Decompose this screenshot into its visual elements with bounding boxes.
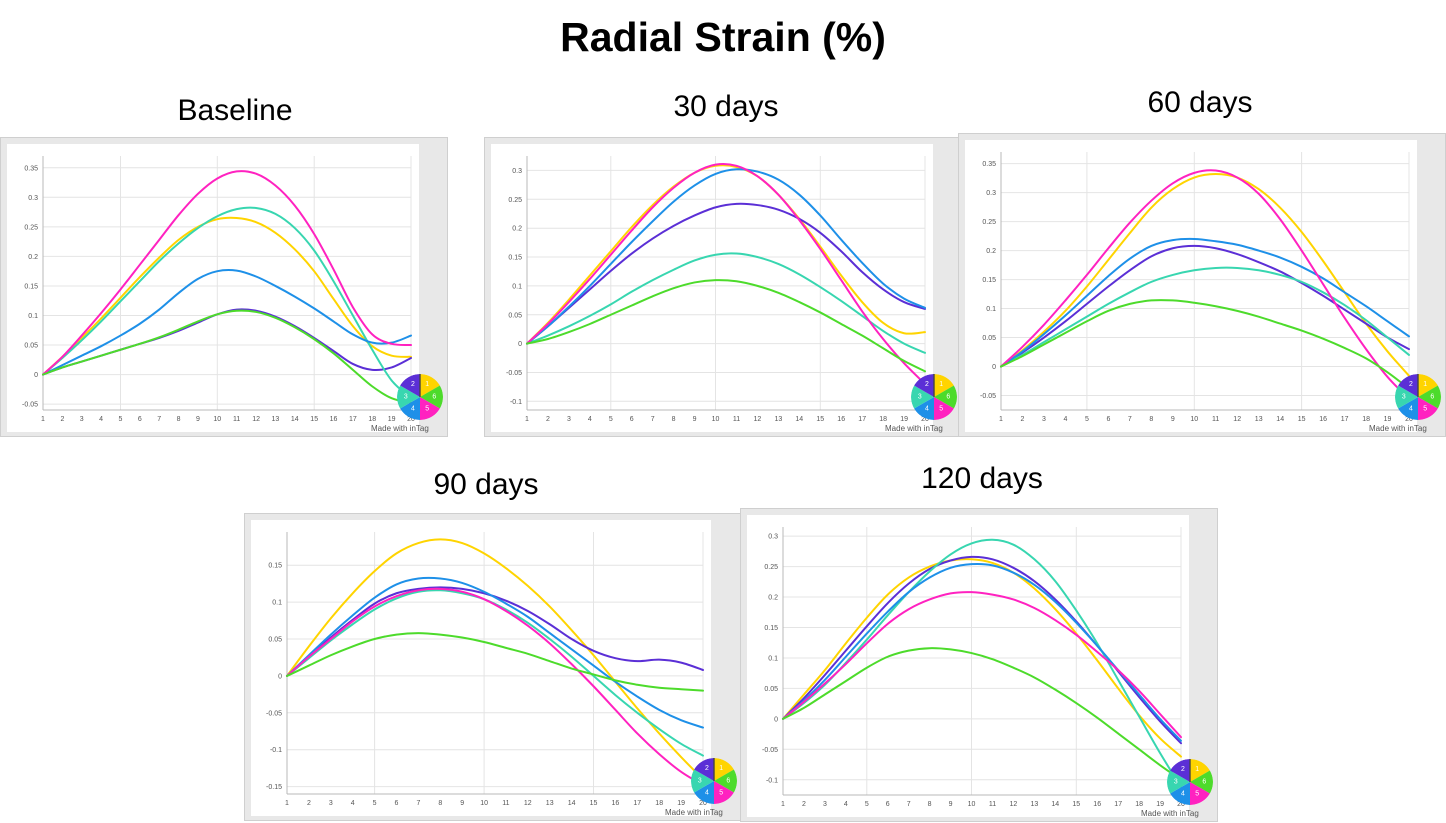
series-line-4: [287, 578, 703, 728]
svg-text:14: 14: [1276, 416, 1284, 423]
svg-text:17: 17: [633, 800, 641, 807]
svg-text:18: 18: [368, 416, 376, 423]
svg-text:0.3: 0.3: [28, 195, 38, 202]
svg-text:16: 16: [330, 416, 338, 423]
svg-text:13: 13: [775, 416, 783, 423]
svg-text:13: 13: [1255, 416, 1263, 423]
svg-text:9: 9: [460, 800, 464, 807]
chart-panel-baseline: -0.0500.050.10.150.20.250.30.35123456789…: [0, 137, 448, 437]
watermark-label: Made with inTag: [1141, 809, 1199, 818]
svg-text:-0.1: -0.1: [510, 399, 522, 406]
svg-text:5: 5: [425, 406, 429, 413]
svg-text:6: 6: [395, 800, 399, 807]
svg-text:0: 0: [518, 341, 522, 348]
svg-text:10: 10: [712, 416, 720, 423]
svg-text:11: 11: [502, 800, 509, 807]
svg-text:16: 16: [837, 416, 845, 423]
svg-text:4: 4: [844, 801, 848, 808]
svg-text:9: 9: [949, 801, 953, 808]
chart-panel-d90: -0.15-0.1-0.0500.050.10.1512345678910111…: [244, 513, 742, 821]
svg-text:8: 8: [928, 801, 932, 808]
segment-wheel-legend: 165432: [397, 374, 443, 420]
svg-text:0.15: 0.15: [268, 563, 282, 570]
segment-wheel-legend: 165432: [911, 374, 957, 420]
svg-text:-0.15: -0.15: [266, 784, 282, 791]
panel-title-baseline: Baseline: [0, 94, 470, 128]
svg-text:14: 14: [1051, 801, 1059, 808]
svg-text:11: 11: [1212, 416, 1219, 423]
svg-text:4: 4: [1181, 791, 1185, 798]
svg-text:11: 11: [989, 801, 996, 808]
svg-text:16: 16: [612, 800, 620, 807]
svg-text:14: 14: [568, 800, 576, 807]
svg-text:0: 0: [278, 673, 282, 680]
svg-text:0.3: 0.3: [986, 190, 996, 197]
series-line-2: [287, 587, 703, 676]
svg-text:8: 8: [1149, 416, 1153, 423]
page-title: Radial Strain (%): [0, 14, 1446, 61]
segment-wheel-legend: 165432: [691, 758, 737, 804]
series-line-1: [43, 218, 411, 375]
series-line-2: [783, 557, 1181, 743]
svg-text:3: 3: [918, 393, 922, 400]
svg-text:2: 2: [411, 381, 415, 388]
svg-text:15: 15: [1298, 416, 1306, 423]
svg-text:2: 2: [546, 416, 550, 423]
svg-text:3: 3: [80, 416, 84, 423]
svg-text:9: 9: [1171, 416, 1175, 423]
svg-text:9: 9: [196, 416, 200, 423]
svg-text:4: 4: [99, 416, 103, 423]
svg-text:6: 6: [432, 393, 436, 400]
svg-text:12: 12: [754, 416, 762, 423]
svg-text:0: 0: [774, 716, 778, 723]
svg-text:13: 13: [546, 800, 554, 807]
svg-text:0.25: 0.25: [24, 224, 38, 231]
svg-text:0.25: 0.25: [982, 219, 996, 226]
svg-text:0.05: 0.05: [508, 312, 522, 319]
series-line-1: [287, 539, 703, 779]
watermark-label: Made with inTag: [885, 424, 943, 433]
svg-text:5: 5: [609, 416, 613, 423]
svg-text:0.25: 0.25: [764, 564, 778, 571]
svg-text:16: 16: [1319, 416, 1327, 423]
series-line-5: [43, 171, 411, 374]
svg-text:4: 4: [411, 406, 415, 413]
svg-text:12: 12: [252, 416, 260, 423]
svg-text:10: 10: [968, 801, 976, 808]
plot-area-d60: -0.0500.050.10.150.20.250.30.35123456789…: [965, 140, 1417, 432]
plot-area-baseline: -0.0500.050.10.150.20.250.30.35123456789…: [7, 144, 419, 432]
plot-area-d120: -0.1-0.0500.050.10.150.20.250.3123456789…: [747, 515, 1189, 817]
svg-text:0.1: 0.1: [28, 313, 38, 320]
svg-text:0: 0: [992, 364, 996, 371]
svg-text:12: 12: [524, 800, 532, 807]
svg-text:8: 8: [672, 416, 676, 423]
svg-text:5: 5: [1085, 416, 1089, 423]
svg-text:19: 19: [900, 416, 908, 423]
svg-text:0.1: 0.1: [986, 306, 996, 313]
watermark-label: Made with inTag: [665, 808, 723, 817]
svg-text:3: 3: [698, 777, 702, 784]
svg-text:6: 6: [886, 801, 890, 808]
svg-text:10: 10: [1190, 416, 1198, 423]
svg-text:15: 15: [590, 800, 598, 807]
svg-text:18: 18: [655, 800, 663, 807]
svg-text:14: 14: [795, 416, 803, 423]
svg-text:15: 15: [816, 416, 824, 423]
svg-text:2: 2: [307, 800, 311, 807]
svg-text:0.05: 0.05: [764, 686, 778, 693]
svg-text:3: 3: [823, 801, 827, 808]
series-line-2: [527, 204, 925, 344]
svg-text:0.05: 0.05: [24, 343, 38, 350]
svg-text:7: 7: [907, 801, 911, 808]
series-line-3: [287, 590, 703, 755]
svg-text:0.1: 0.1: [512, 283, 522, 290]
svg-text:15: 15: [310, 416, 318, 423]
svg-text:19: 19: [388, 416, 396, 423]
series-line-3: [43, 208, 411, 399]
segment-wheel-legend: 165432: [1395, 374, 1441, 420]
svg-text:4: 4: [351, 800, 355, 807]
svg-text:3: 3: [329, 800, 333, 807]
svg-text:0.35: 0.35: [24, 165, 38, 172]
svg-text:2: 2: [1409, 381, 1413, 388]
svg-text:6: 6: [1430, 393, 1434, 400]
svg-text:5: 5: [865, 801, 869, 808]
svg-text:0.35: 0.35: [982, 161, 996, 168]
svg-text:-0.05: -0.05: [22, 402, 38, 409]
svg-text:-0.05: -0.05: [980, 393, 996, 400]
svg-text:4: 4: [705, 790, 709, 797]
panel-title-d120: 120 days: [742, 462, 1222, 496]
svg-text:0.15: 0.15: [508, 255, 522, 262]
svg-text:0.1: 0.1: [272, 600, 282, 607]
svg-text:2: 2: [802, 801, 806, 808]
svg-text:12: 12: [1010, 801, 1018, 808]
svg-text:0.05: 0.05: [982, 335, 996, 342]
plot-svg: -0.0500.050.10.150.20.250.30.35123456789…: [965, 140, 1417, 432]
svg-text:11: 11: [733, 416, 740, 423]
svg-text:7: 7: [157, 416, 161, 423]
svg-text:2: 2: [1181, 766, 1185, 773]
series-line-4: [783, 564, 1181, 741]
svg-text:5: 5: [1195, 791, 1199, 798]
svg-text:10: 10: [213, 416, 221, 423]
plot-svg: -0.0500.050.10.150.20.250.30.35123456789…: [7, 144, 419, 432]
svg-text:0.3: 0.3: [512, 168, 522, 175]
svg-text:1: 1: [999, 416, 1003, 423]
svg-text:0.25: 0.25: [508, 197, 522, 204]
svg-text:0: 0: [34, 372, 38, 379]
series-line-5: [1001, 170, 1409, 399]
svg-text:11: 11: [233, 416, 240, 423]
watermark-label: Made with inTag: [371, 424, 429, 433]
series-line-5: [783, 592, 1181, 737]
svg-text:10: 10: [480, 800, 488, 807]
svg-text:4: 4: [588, 416, 592, 423]
series-line-3: [783, 540, 1181, 787]
svg-text:2: 2: [1021, 416, 1025, 423]
svg-text:0.15: 0.15: [982, 277, 996, 284]
svg-text:3: 3: [1174, 778, 1178, 785]
svg-text:1: 1: [1423, 381, 1427, 388]
svg-text:3: 3: [404, 393, 408, 400]
svg-text:17: 17: [858, 416, 866, 423]
svg-text:4: 4: [925, 406, 929, 413]
series-line-6: [527, 280, 925, 371]
chart-panel-d60: -0.0500.050.10.150.20.250.30.35123456789…: [958, 133, 1446, 437]
svg-text:-0.05: -0.05: [266, 710, 282, 717]
svg-text:0.05: 0.05: [268, 637, 282, 644]
chart-panel-d30: -0.1-0.0500.050.10.150.20.250.3123456789…: [484, 137, 962, 437]
svg-text:14: 14: [291, 416, 299, 423]
svg-text:5: 5: [719, 790, 723, 797]
svg-text:2: 2: [60, 416, 64, 423]
svg-text:1: 1: [719, 765, 723, 772]
svg-text:6: 6: [1106, 416, 1110, 423]
svg-text:4: 4: [1409, 406, 1413, 413]
svg-text:2: 2: [705, 765, 709, 772]
svg-text:0.2: 0.2: [28, 254, 38, 261]
plot-svg: -0.15-0.1-0.0500.050.10.1512345678910111…: [251, 520, 711, 816]
svg-text:3: 3: [1042, 416, 1046, 423]
svg-text:0.3: 0.3: [768, 534, 778, 541]
svg-text:7: 7: [416, 800, 420, 807]
watermark-label: Made with inTag: [1369, 424, 1427, 433]
svg-text:1: 1: [525, 416, 529, 423]
svg-text:5: 5: [373, 800, 377, 807]
svg-text:17: 17: [1341, 416, 1349, 423]
svg-text:6: 6: [630, 416, 634, 423]
plot-svg: -0.1-0.0500.050.10.150.20.250.3123456789…: [491, 144, 933, 432]
svg-text:1: 1: [1195, 766, 1199, 773]
svg-text:0.2: 0.2: [986, 248, 996, 255]
svg-text:3: 3: [567, 416, 571, 423]
svg-text:18: 18: [879, 416, 887, 423]
svg-text:9: 9: [693, 416, 697, 423]
svg-text:5: 5: [1423, 406, 1427, 413]
svg-text:0.15: 0.15: [24, 284, 38, 291]
svg-text:16: 16: [1093, 801, 1101, 808]
svg-text:3: 3: [1402, 393, 1406, 400]
svg-text:1: 1: [939, 381, 943, 388]
svg-text:1: 1: [285, 800, 289, 807]
panel-title-d90: 90 days: [246, 468, 726, 502]
svg-text:13: 13: [272, 416, 280, 423]
svg-text:18: 18: [1362, 416, 1370, 423]
panel-title-d30: 30 days: [486, 90, 966, 124]
plot-svg: -0.1-0.0500.050.10.150.20.250.3123456789…: [747, 515, 1189, 817]
svg-text:7: 7: [1128, 416, 1132, 423]
svg-text:1: 1: [425, 381, 429, 388]
svg-text:12: 12: [1233, 416, 1241, 423]
svg-text:0.2: 0.2: [768, 595, 778, 602]
svg-text:17: 17: [1114, 801, 1122, 808]
svg-text:6: 6: [946, 393, 950, 400]
svg-text:8: 8: [438, 800, 442, 807]
plot-area-d90: -0.15-0.1-0.0500.050.10.1512345678910111…: [251, 520, 711, 816]
svg-text:-0.05: -0.05: [762, 747, 778, 754]
svg-text:19: 19: [1156, 801, 1164, 808]
svg-text:0.2: 0.2: [512, 226, 522, 233]
svg-text:0.15: 0.15: [764, 625, 778, 632]
svg-text:1: 1: [41, 416, 45, 423]
svg-text:-0.1: -0.1: [270, 747, 282, 754]
chart-panel-d120: -0.1-0.0500.050.10.150.20.250.3123456789…: [740, 508, 1218, 822]
svg-text:5: 5: [119, 416, 123, 423]
segment-wheel-legend: 165432: [1167, 759, 1213, 805]
svg-text:7: 7: [651, 416, 655, 423]
svg-text:6: 6: [138, 416, 142, 423]
svg-text:19: 19: [677, 800, 685, 807]
svg-text:4: 4: [1063, 416, 1067, 423]
svg-text:19: 19: [1384, 416, 1392, 423]
svg-text:-0.05: -0.05: [506, 370, 522, 377]
svg-text:13: 13: [1031, 801, 1039, 808]
svg-text:17: 17: [349, 416, 357, 423]
svg-text:6: 6: [726, 777, 730, 784]
svg-text:-0.1: -0.1: [766, 777, 778, 784]
panel-title-d60: 60 days: [960, 86, 1440, 120]
svg-text:0.1: 0.1: [768, 656, 778, 663]
svg-text:15: 15: [1072, 801, 1080, 808]
series-line-1: [1001, 174, 1409, 376]
svg-text:8: 8: [177, 416, 181, 423]
svg-text:1: 1: [781, 801, 785, 808]
svg-text:5: 5: [939, 406, 943, 413]
svg-text:18: 18: [1135, 801, 1143, 808]
svg-text:2: 2: [925, 381, 929, 388]
plot-area-d30: -0.1-0.0500.050.10.150.20.250.3123456789…: [491, 144, 933, 432]
svg-text:6: 6: [1202, 778, 1206, 785]
